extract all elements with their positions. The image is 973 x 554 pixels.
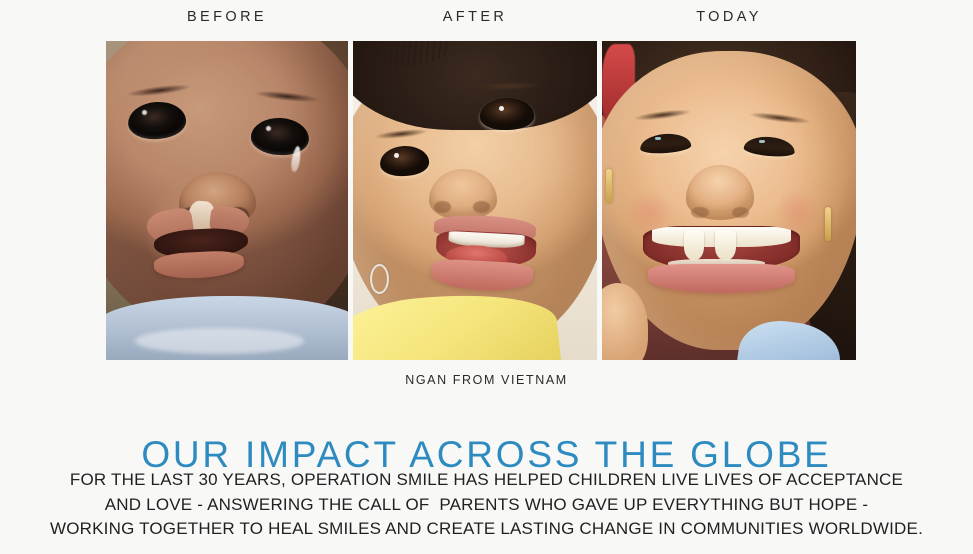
body-line-3: WORKING TOGETHER TO HEAL SMILES AND CREA… <box>0 517 973 542</box>
photo-strip <box>106 41 856 360</box>
label-today: TODAY <box>602 9 856 25</box>
girl-eye-glint-left <box>655 137 661 140</box>
body-line-1: FOR THE LAST 30 YEARS, OPERATION SMILE H… <box>0 468 973 493</box>
label-after: AFTER <box>353 9 597 25</box>
girl-front-tooth-right <box>715 230 735 259</box>
infant-eye-glint-right <box>266 126 271 131</box>
body-paragraph: FOR THE LAST 30 YEARS, OPERATION SMILE H… <box>0 468 973 542</box>
body-line-2: AND LOVE - ANSWERING THE CALL OF PARENTS… <box>0 493 973 518</box>
photo-before <box>106 41 348 360</box>
toddler-nostril-right <box>473 201 490 214</box>
infant-shirt-fold <box>135 328 304 354</box>
girl-front-tooth-left <box>684 230 704 259</box>
infant-eye-glint-left <box>142 110 147 115</box>
toddler-nostril-left <box>434 201 451 214</box>
girl-lower-lip <box>648 264 795 293</box>
girl-earring-left <box>606 169 612 203</box>
label-before: BEFORE <box>106 9 348 25</box>
girl-eye-glint-right <box>759 140 765 143</box>
photo-caption: NGAN FROM VIETNAM <box>0 373 973 387</box>
toddler-eye-right <box>480 98 534 131</box>
girl-earring-right <box>825 207 831 241</box>
column-labels: BEFORE AFTER TODAY <box>106 9 856 31</box>
impact-page: BEFORE AFTER TODAY <box>0 0 973 554</box>
girl-nostril-left <box>691 207 709 218</box>
photo-after <box>353 41 597 360</box>
photo-today <box>602 41 856 360</box>
